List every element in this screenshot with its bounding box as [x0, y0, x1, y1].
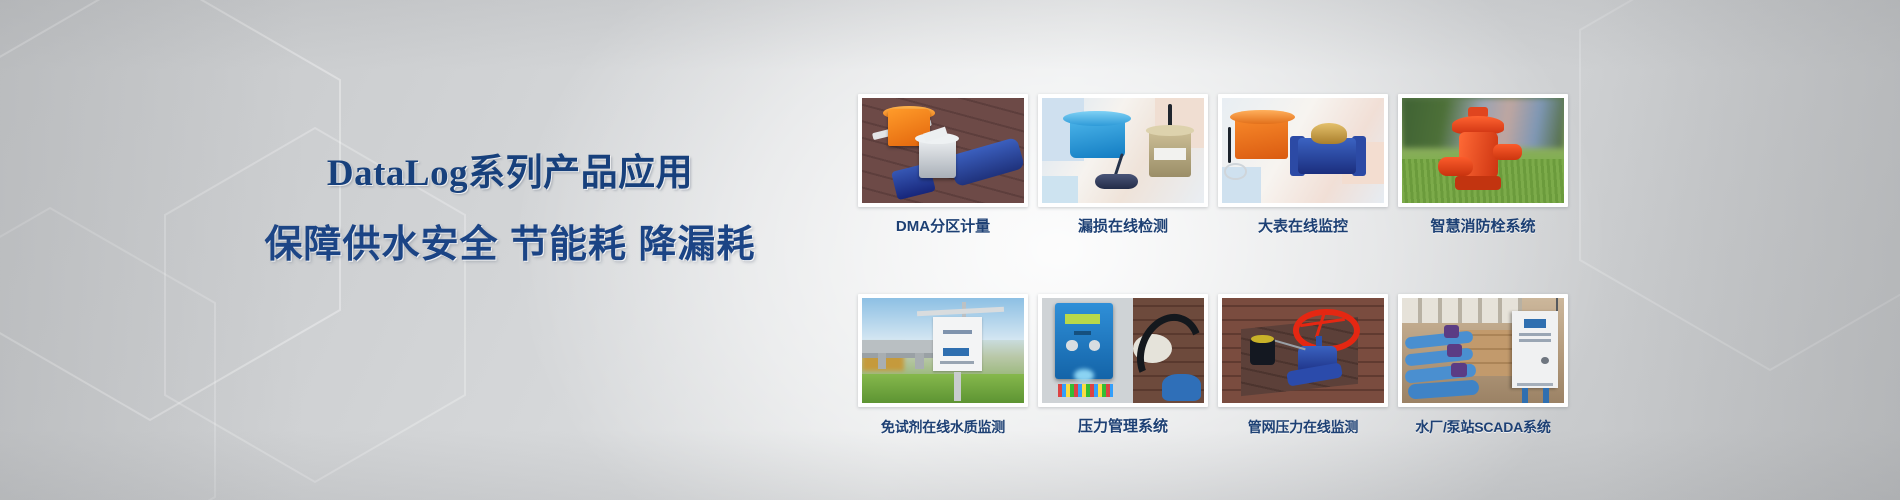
- product-card-reagent-free-water-quality[interactable]: 免试剂在线水质监测: [858, 294, 1028, 436]
- waterworks-pump-scada-photo: [1402, 298, 1564, 403]
- dma-zone-metering-photo: [862, 98, 1024, 203]
- headline-secondary: 保障供水安全 节能耗 降漏耗: [230, 220, 790, 270]
- product-row-2: 免试剂在线水质监测 压力管理系统: [858, 294, 1568, 436]
- product-caption: 管网压力在线监测: [1218, 418, 1388, 436]
- product-row-1: DMA分区计量 漏损在线检测: [858, 94, 1568, 236]
- product-grid: DMA分区计量 漏损在线检测: [858, 94, 1568, 436]
- product-thumbnail[interactable]: [858, 94, 1028, 207]
- product-thumbnail[interactable]: [1398, 294, 1568, 407]
- product-thumbnail[interactable]: [1218, 94, 1388, 207]
- product-card-waterworks-pump-scada[interactable]: 水厂/泵站SCADA系统: [1398, 294, 1568, 436]
- pipeline-pressure-monitoring-photo: [1222, 298, 1384, 403]
- product-application-banner: DataLog系列产品应用 保障供水安全 节能耗 降漏耗 DMA分区计量: [0, 0, 1900, 500]
- smart-hydrant-system-photo: [1402, 98, 1564, 203]
- reagent-free-water-quality-photo: [862, 298, 1024, 403]
- headline-primary: DataLog系列产品应用: [230, 150, 790, 198]
- product-caption: DMA分区计量: [858, 218, 1028, 236]
- banner-headline: DataLog系列产品应用 保障供水安全 节能耗 降漏耗: [230, 150, 790, 270]
- product-thumbnail[interactable]: [858, 294, 1028, 407]
- product-caption: 免试剂在线水质监测: [858, 418, 1028, 436]
- hexagon-watermark-icon-4: [1560, 0, 1900, 380]
- product-card-pressure-management-system[interactable]: 压力管理系统: [1038, 294, 1208, 436]
- product-caption: 漏损在线检测: [1038, 218, 1208, 236]
- large-meter-monitoring-photo: [1222, 98, 1384, 203]
- product-caption: 水厂/泵站SCADA系统: [1398, 418, 1568, 436]
- product-caption: 大表在线监控: [1218, 218, 1388, 236]
- product-thumbnail[interactable]: [1398, 94, 1568, 207]
- product-thumbnail[interactable]: [1038, 294, 1208, 407]
- product-card-dma-zone-metering[interactable]: DMA分区计量: [858, 94, 1028, 236]
- product-caption: 压力管理系统: [1038, 418, 1208, 436]
- product-card-pipeline-pressure-monitoring[interactable]: 管网压力在线监测: [1218, 294, 1388, 436]
- hexagon-watermark-icon-3: [0, 200, 230, 500]
- pressure-management-system-photo: [1042, 298, 1204, 403]
- product-card-leakage-online-detection[interactable]: 漏损在线检测: [1038, 94, 1208, 236]
- product-card-smart-hydrant-system[interactable]: 智慧消防栓系统: [1398, 94, 1568, 236]
- leakage-online-detection-photo: [1042, 98, 1204, 203]
- product-thumbnail[interactable]: [1038, 94, 1208, 207]
- product-caption: 智慧消防栓系统: [1398, 218, 1568, 236]
- product-thumbnail[interactable]: [1218, 294, 1388, 407]
- product-card-large-meter-monitoring[interactable]: 大表在线监控: [1218, 94, 1388, 236]
